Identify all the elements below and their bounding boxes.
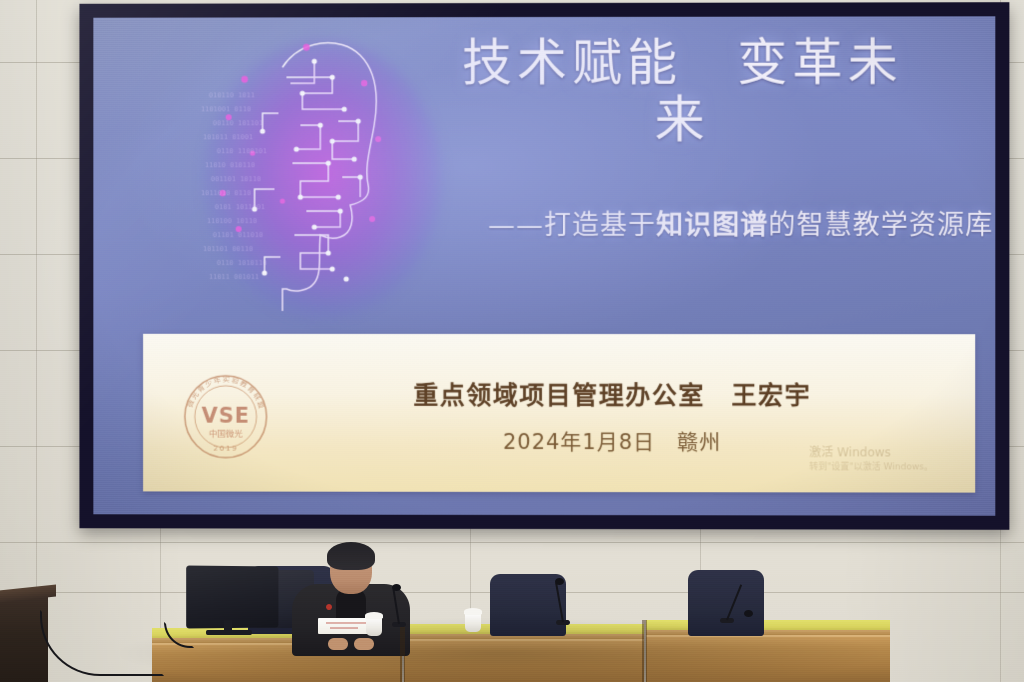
wall-grout-line	[36, 0, 37, 682]
svg-text:VSE: VSE	[201, 404, 249, 428]
water-cup-right	[465, 612, 481, 632]
presenter-hair	[327, 542, 375, 570]
water-cup-lid-right	[464, 608, 482, 615]
slide-banner: VSE 中国微光 2019 微光青少年实验教育联盟 重点领域项目管理办公室 王宏…	[143, 334, 975, 493]
svg-text:010110 1011: 010110 1011	[209, 91, 255, 99]
paper-marking	[330, 627, 358, 629]
desk-monitor	[186, 566, 278, 629]
wall-grout-line	[0, 542, 1024, 543]
svg-text:1101001 0110: 1101001 0110	[201, 105, 251, 113]
svg-text:101011 01001: 101011 01001	[203, 133, 253, 141]
slide-title-line-2: 来	[392, 92, 973, 150]
svg-text:01101 011010: 01101 011010	[213, 231, 263, 239]
mic-head-center	[555, 578, 564, 585]
mic-head-right	[744, 610, 753, 617]
conference-room-photo: 010110 1011 1101001 0110 00110 101101 10…	[0, 0, 1024, 682]
slide-title: 技术赋能 变革未 来	[392, 34, 973, 149]
presenter-hand-right	[354, 638, 374, 650]
svg-text:001101 10110: 001101 10110	[211, 175, 261, 183]
desk-seam	[642, 620, 647, 682]
watermark-line-2: 转到"设置"以激活 Windows。	[809, 461, 933, 474]
slide-subtitle-prefix: ——打造基于	[488, 210, 656, 241]
presenter-line: 重点领域项目管理办公室 王宏宇	[292, 376, 933, 413]
svg-text:110100 10110: 110100 10110	[207, 217, 257, 225]
slide-title-line-1: 技术赋能 变革未	[392, 34, 973, 92]
date-city-line: 2024年1月8日 赣州	[292, 426, 933, 457]
mic-head-left	[392, 584, 401, 591]
svg-text:1011010 0110: 1011010 0110	[201, 189, 251, 197]
projection-screen-frame: 010110 1011 1101001 0110 00110 101101 10…	[79, 2, 1009, 530]
svg-text:中国微光: 中国微光	[209, 429, 243, 439]
slide-subtitle-suffix: 的智慧教学资源库	[768, 210, 993, 241]
svg-text:00110 101101: 00110 101101	[213, 119, 263, 127]
lectern	[0, 596, 48, 682]
svg-text:0101 1011001: 0101 1011001	[215, 203, 265, 211]
presenter-hand-left	[328, 638, 348, 650]
paper-marking	[326, 622, 366, 624]
svg-text:11011 001011: 11011 001011	[209, 273, 259, 281]
monitor-base	[206, 630, 252, 635]
water-cup-lid-left	[365, 612, 383, 619]
svg-text:101101 00110: 101101 00110	[203, 245, 253, 253]
lapel-pin	[326, 604, 332, 610]
svg-text:0110 1100101: 0110 1100101	[217, 147, 267, 155]
presentation-slide: 010110 1011 1101001 0110 00110 101101 10…	[93, 16, 995, 515]
slide-subtitle-highlight: 知识图谱	[656, 210, 768, 241]
vse-seal-logo: VSE 中国微光 2019 微光青少年实验教育联盟	[183, 374, 269, 460]
svg-text:11010 010110: 11010 010110	[205, 161, 255, 169]
slide-subtitle: ——打造基于知识图谱的智慧教学资源库	[392, 203, 993, 242]
desk-seam	[400, 624, 405, 682]
svg-text:2019: 2019	[213, 444, 238, 453]
banner-text-block: 重点领域项目管理办公室 王宏宇 2024年1月8日 赣州	[292, 376, 933, 457]
water-cup-left	[366, 616, 382, 636]
svg-text:0110 1010110: 0110 1010110	[217, 259, 267, 267]
chair-back-right	[688, 570, 764, 636]
